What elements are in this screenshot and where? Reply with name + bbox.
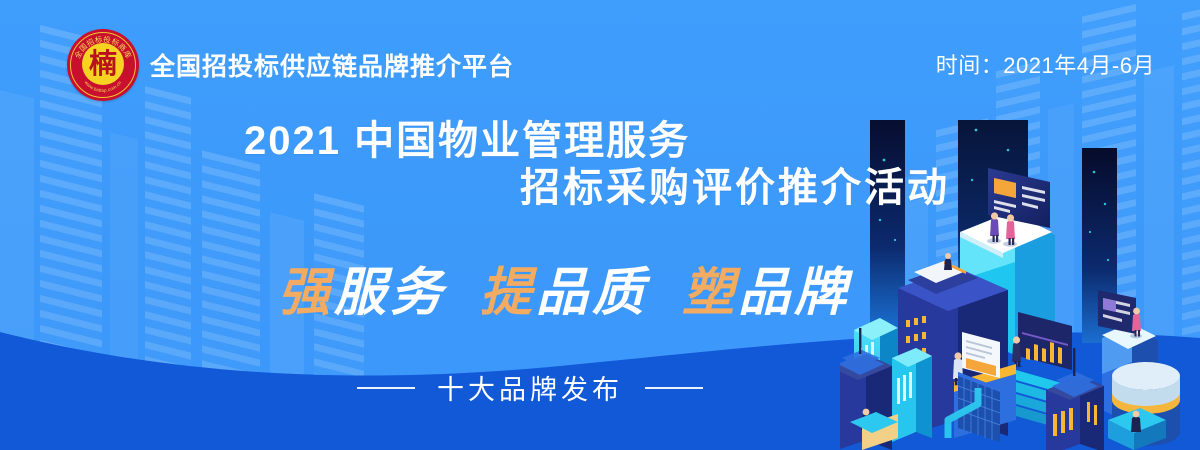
slogan-plain-1: 服务 bbox=[334, 262, 446, 323]
title-line-2: 招标采购评价推介活动 bbox=[0, 165, 1000, 212]
title-line-1: 2021 中国物业管理服务 bbox=[0, 118, 1000, 165]
dash-right bbox=[645, 387, 703, 389]
event-date: 时间：2021年4月-6月 bbox=[936, 48, 1155, 80]
platform-name: 全国招投标供应链品牌推介平台 bbox=[150, 47, 514, 83]
main-title: 2021 中国物业管理服务 招标采购评价推介活动 bbox=[0, 118, 1000, 212]
seal-center-character: 楠 bbox=[82, 43, 124, 85]
bottom-caption-row: 十大品牌发布 bbox=[0, 368, 1060, 407]
bottom-caption: 十大品牌发布 bbox=[437, 368, 623, 407]
slogan: 强服务提品质塑品牌 bbox=[0, 250, 900, 325]
dash-left bbox=[357, 387, 415, 389]
slogan-accent-1: 强 bbox=[278, 262, 334, 323]
banner-header: 全国招标投标商库 www.bidtop.com.cn 楠 全国招投标供应链品牌推… bbox=[0, 0, 1200, 105]
platform-logo[interactable]: 全国招标投标商库 www.bidtop.com.cn 楠 bbox=[67, 29, 139, 101]
slogan-plain-2: 品质 bbox=[536, 262, 648, 323]
slogan-accent-3: 塑 bbox=[682, 262, 738, 323]
slogan-plain-3: 品牌 bbox=[738, 262, 850, 323]
figure-rooftop-worker bbox=[944, 253, 952, 270]
promo-banner: 全国招标投标商库 www.bidtop.com.cn 楠 全国招投标供应链品牌推… bbox=[0, 0, 1200, 450]
slogan-accent-2: 提 bbox=[480, 262, 536, 323]
